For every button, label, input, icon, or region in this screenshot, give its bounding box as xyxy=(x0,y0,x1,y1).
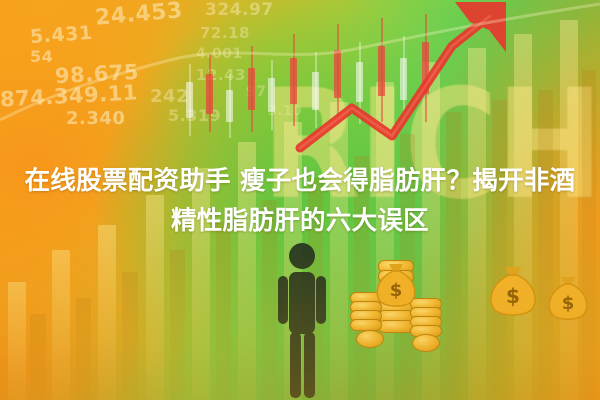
headline-line-2: 精性脂肪肝的六大误区 xyxy=(14,202,586,242)
headline-line-1: 在线股票配资助手 瘦子也会得脂肪肝？揭开非酒 xyxy=(14,162,586,202)
banner-image: 24.453 324.97 5.431 72.18 54 4.001 98.67… xyxy=(0,0,600,400)
headline-text: 在线股票配资助手 瘦子也会得脂肪肝？揭开非酒 精性脂肪肝的六大误区 xyxy=(0,162,600,241)
